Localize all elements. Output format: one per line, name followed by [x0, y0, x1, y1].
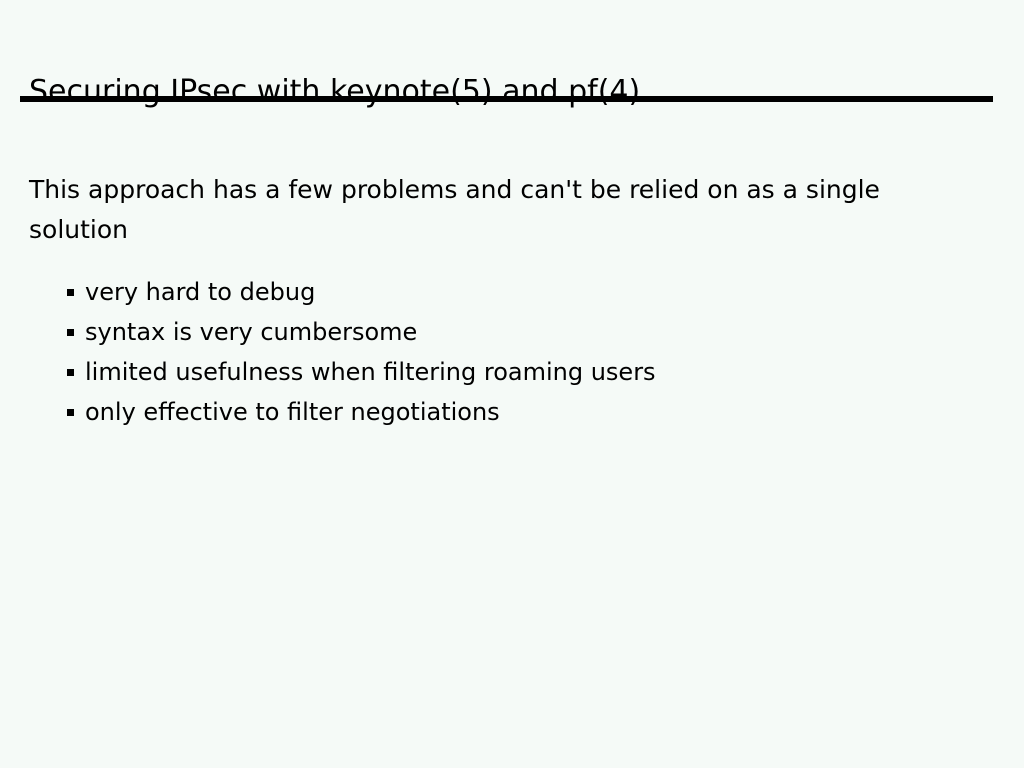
list-item: syntax is very cumbersome — [67, 312, 987, 352]
square-bullet-icon — [67, 369, 74, 376]
intro-paragraph: This approach has a few problems and can… — [29, 170, 909, 250]
presentation-slide: Securing IPsec with keynote(5) and pf(4)… — [0, 0, 1024, 768]
list-item-label: only effective to filter negotiations — [85, 392, 500, 432]
list-item: limited usefulness when filtering roamin… — [67, 352, 987, 392]
list-item-label: very hard to debug — [85, 272, 315, 312]
list-item: very hard to debug — [67, 272, 987, 312]
square-bullet-icon — [67, 409, 74, 416]
list-item: only effective to filter negotiations — [67, 392, 987, 432]
problem-bullet-list: very hard to debug syntax is very cumber… — [67, 272, 987, 432]
list-item-label: limited usefulness when filtering roamin… — [85, 352, 656, 392]
list-item-label: syntax is very cumbersome — [85, 312, 417, 352]
square-bullet-icon — [67, 289, 74, 296]
square-bullet-icon — [67, 329, 74, 336]
slide-body: This approach has a few problems and can… — [0, 0, 1024, 768]
